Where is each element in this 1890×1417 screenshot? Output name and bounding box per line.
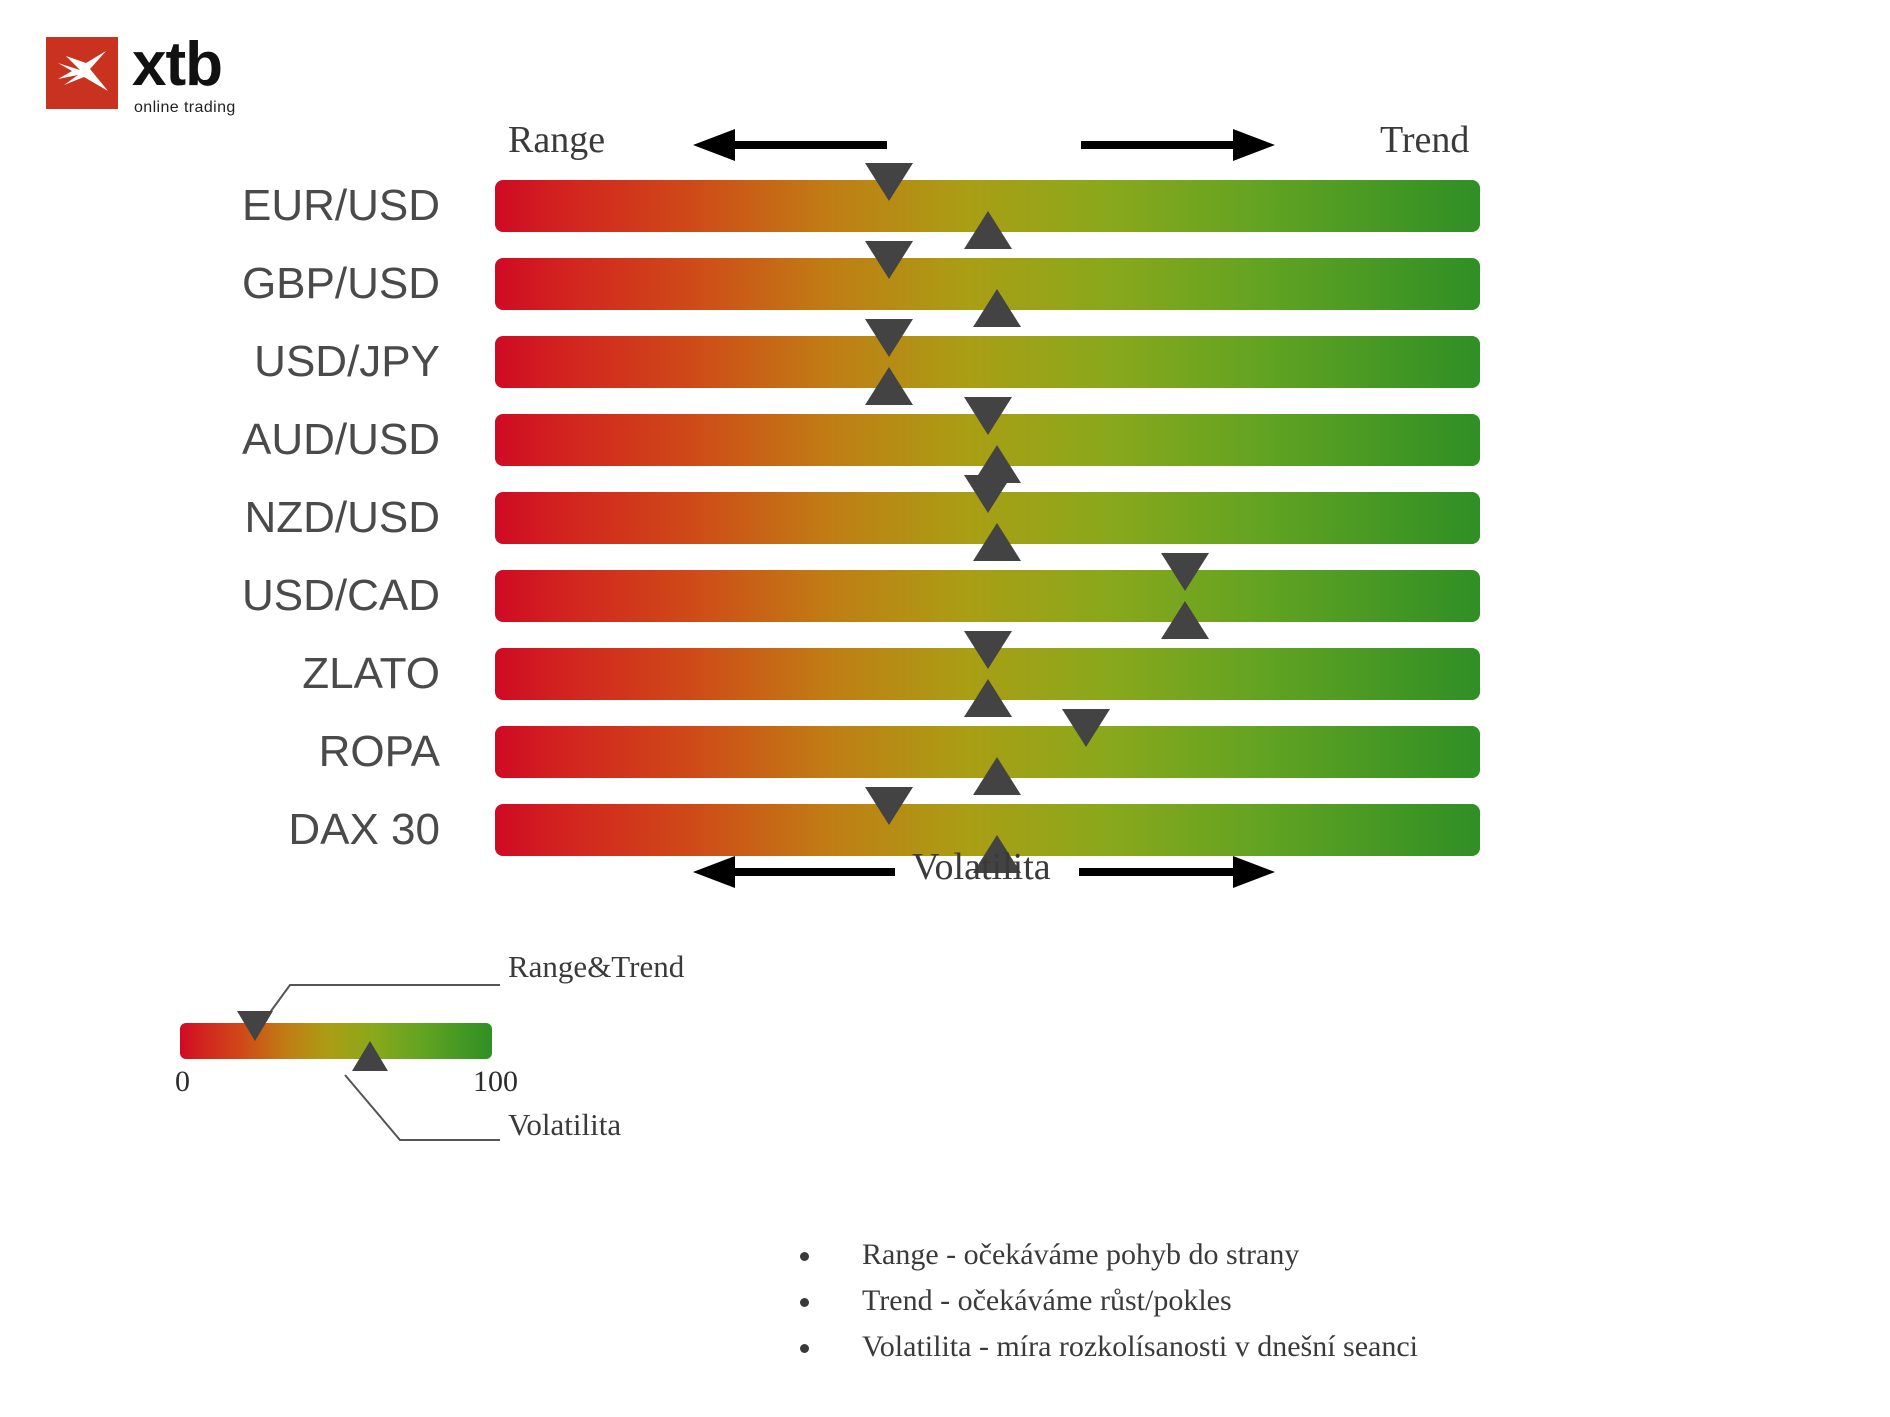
- range-trend-marker-usdjpy[interactable]: [865, 319, 913, 357]
- legend-scale-min: 0: [175, 1065, 190, 1099]
- chart-row: ROPA: [0, 726, 1890, 778]
- range-trend-marker-gbpusd[interactable]: [865, 241, 913, 279]
- volatility-arrow-right-icon: [1233, 856, 1275, 888]
- range-trend-marker-eurusd[interactable]: [865, 163, 913, 201]
- volatility-trend-chart: EUR/USD GBP/USD USD/JPY AUD/USD NZD/USD: [0, 180, 1890, 820]
- bottom-axis: Volatilita: [0, 845, 1890, 905]
- bullet-text-volatilita: Volatilita - míra rozkolísanosti v dnešn…: [862, 1330, 1418, 1364]
- logo-tagline: online trading: [134, 99, 236, 117]
- volatility-marker-usdjpy[interactable]: [865, 367, 913, 405]
- row-label-nzdusd: NZD/USD: [0, 492, 440, 544]
- top-axis: Range Trend: [0, 118, 1890, 170]
- gradient-bar-eurusd: [495, 180, 1480, 232]
- chart-row: EUR/USD: [0, 180, 1890, 232]
- row-label-eurusd: EUR/USD: [0, 180, 440, 232]
- volatility-marker-usdcad[interactable]: [1161, 601, 1209, 639]
- volatility-arrow-left-icon: [693, 856, 735, 888]
- gradient-bar-ropa: [495, 726, 1480, 778]
- gradient-bar-gbpusd: [495, 258, 1480, 310]
- row-label-zlato: ZLATO: [0, 648, 440, 700]
- list-item: Range - očekáváme pohyb do strany: [800, 1238, 1800, 1284]
- arrow-left-shaft: [735, 141, 887, 149]
- legend-gradient-bar: [180, 1023, 492, 1059]
- volatility-marker-eurusd[interactable]: [964, 211, 1012, 249]
- bullet-text-range: Range - očekáváme pohyb do strany: [862, 1238, 1299, 1272]
- xtb-x-mark-icon: [46, 37, 118, 109]
- row-label-ropa: ROPA: [0, 726, 440, 778]
- axis-label-trend: Trend: [1380, 118, 1469, 162]
- range-trend-marker-nzdusd[interactable]: [964, 475, 1012, 513]
- chart-row: USD/CAD: [0, 570, 1890, 622]
- bullet-dot-icon: [800, 1298, 809, 1307]
- gradient-bar-audusd: [495, 414, 1480, 466]
- bullet-text-trend: Trend - očekáváme růst/pokles: [862, 1284, 1232, 1318]
- list-item: Volatilita - míra rozkolísanosti v dnešn…: [800, 1330, 1800, 1376]
- gradient-bar-zlato: [495, 648, 1480, 700]
- legend-volatility-label: Volatilita: [508, 1107, 621, 1143]
- range-trend-marker-audusd[interactable]: [964, 397, 1012, 435]
- volatility-marker-ropa[interactable]: [973, 757, 1021, 795]
- volatility-marker-zlato[interactable]: [964, 679, 1012, 717]
- row-label-usdcad: USD/CAD: [0, 570, 440, 622]
- legend-range-trend-label: Range&Trend: [508, 949, 684, 985]
- axis-label-range: Range: [508, 118, 605, 162]
- row-label-usdjpy: USD/JPY: [0, 336, 440, 388]
- legend-range-trend-marker-icon: [237, 1011, 273, 1041]
- axis-label-volatilita: Volatilita: [912, 845, 1051, 889]
- chart-row: USD/JPY: [0, 336, 1890, 388]
- arrow-right-icon: [1233, 129, 1275, 161]
- chart-row: AUD/USD: [0, 414, 1890, 466]
- volatility-arrow-right-shaft: [1079, 868, 1233, 876]
- chart-row: NZD/USD: [0, 492, 1890, 544]
- legend-volatility-marker-icon: [352, 1041, 388, 1071]
- gradient-bar-usdcad: [495, 570, 1480, 622]
- list-item: Trend - očekáváme růst/pokles: [800, 1284, 1800, 1330]
- row-label-audusd: AUD/USD: [0, 414, 440, 466]
- bullet-dot-icon: [800, 1344, 809, 1353]
- gradient-bar-usdjpy: [495, 336, 1480, 388]
- bullet-dot-icon: [800, 1252, 809, 1261]
- arrow-right-shaft: [1081, 141, 1233, 149]
- chart-row: GBP/USD: [0, 258, 1890, 310]
- legend: Range&Trend Volatilita 0 100: [0, 925, 1890, 1185]
- legend-scale-max: 100: [473, 1065, 518, 1099]
- arrow-left-icon: [693, 129, 735, 161]
- volatility-arrow-left-shaft: [735, 868, 895, 876]
- xtb-logo: xtb online trading: [46, 37, 266, 117]
- range-trend-marker-zlato[interactable]: [964, 631, 1012, 669]
- gradient-bar-nzdusd: [495, 492, 1480, 544]
- range-trend-marker-usdcad[interactable]: [1161, 553, 1209, 591]
- range-trend-marker-dax30[interactable]: [865, 787, 913, 825]
- row-label-gbpusd: GBP/USD: [0, 258, 440, 310]
- chart-row: ZLATO: [0, 648, 1890, 700]
- volatility-marker-nzdusd[interactable]: [973, 523, 1021, 561]
- legend-description-list: Range - očekáváme pohyb do strany Trend …: [800, 1238, 1800, 1376]
- range-trend-marker-ropa[interactable]: [1062, 709, 1110, 747]
- volatility-marker-gbpusd[interactable]: [973, 289, 1021, 327]
- logo-wordmark: xtb: [132, 34, 222, 96]
